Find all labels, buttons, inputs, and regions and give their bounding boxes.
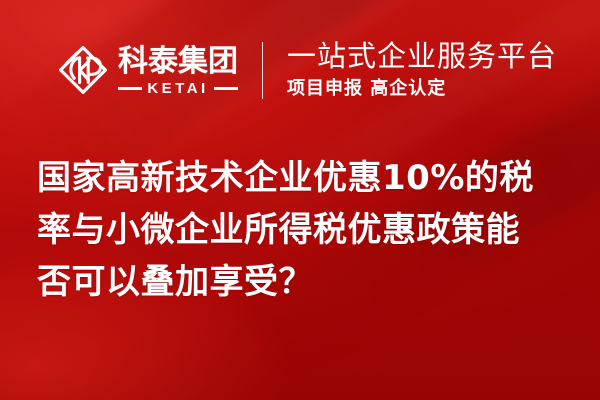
- tagline-block: 一站式企业服务平台 项目申报 高企认定: [287, 40, 557, 99]
- headline-block: 国家高新技术企业优惠10%的税 率与小微企业所得税优惠政策能 否可以叠加享受？: [37, 152, 567, 308]
- headline-line: 国家高新技术企业优惠10%的税: [37, 152, 567, 204]
- brand-name-latin: KETAI: [147, 81, 208, 96]
- vertical-divider-icon: [262, 42, 263, 99]
- brand-wordmark: 科泰集团 KETAI: [118, 45, 238, 96]
- ketai-rhombus-kp-monogram-icon: [57, 44, 109, 96]
- promo-banner: 科泰集团 KETAI 一站式企业服务平台 项目申报 高企认定 国家高新技术企业优…: [0, 0, 600, 400]
- tagline-secondary: 项目申报 高企认定: [287, 78, 557, 100]
- brand-logo[interactable]: 科泰集团 KETAI: [57, 44, 238, 96]
- banner-header: 科泰集团 KETAI 一站式企业服务平台 项目申报 高企认定: [0, 0, 600, 140]
- brand-name-latin-row: KETAI: [118, 81, 238, 96]
- brand-name-cn: 科泰集团: [118, 47, 238, 77]
- headline-line: 率与小微企业所得税优惠政策能: [37, 204, 567, 256]
- headline-line: 否可以叠加享受？: [37, 256, 567, 308]
- tagline-primary: 一站式企业服务平台: [287, 40, 557, 72]
- horizontal-rule-icon: [118, 87, 142, 90]
- horizontal-rule-icon: [214, 87, 238, 90]
